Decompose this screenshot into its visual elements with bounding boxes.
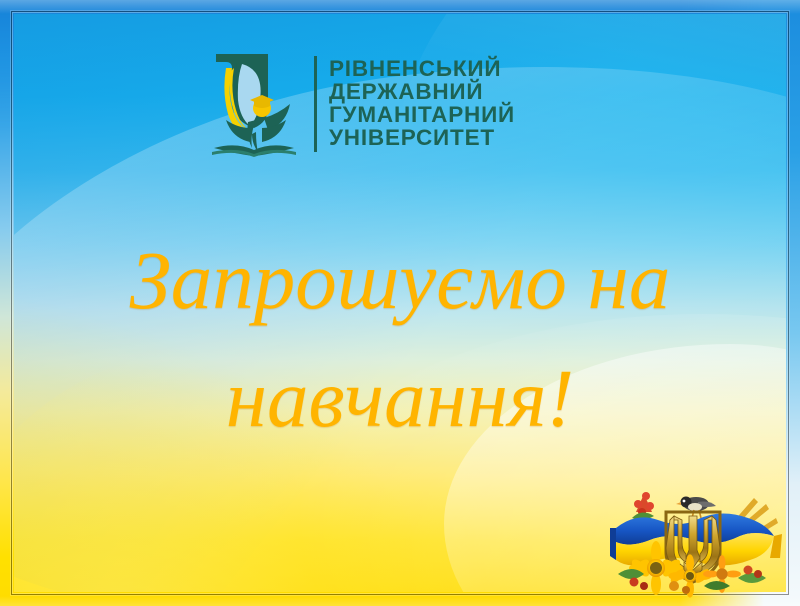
presentation-slide: РІВНЕНСЬКИЙ ДЕРЖАВНИЙ ГУМАНІТАРНИЙ УНІВЕ… bbox=[0, 0, 800, 606]
rshu-emblem-icon bbox=[206, 48, 302, 160]
ukraine-national-emblem bbox=[598, 478, 788, 602]
university-name-line-1: РІВНЕНСЬКИЙ bbox=[329, 58, 515, 81]
university-name-line-2: ДЕРЖАВНИЙ bbox=[329, 81, 515, 104]
university-name-line-4: УНІВЕРСИТЕТ bbox=[329, 127, 515, 150]
logo-divider bbox=[314, 56, 317, 152]
university-name: РІВНЕНСЬКИЙ ДЕРЖАВНИЙ ГУМАНІТАРНИЙ УНІВЕ… bbox=[329, 58, 515, 150]
background-swirl-5 bbox=[14, 214, 594, 592]
university-logo: РІВНЕНСЬКИЙ ДЕРЖАВНИЙ ГУМАНІТАРНИЙ УНІВЕ… bbox=[206, 48, 515, 160]
university-name-line-3: ГУМАНІТАРНИЙ bbox=[329, 104, 515, 127]
background-swirl-6 bbox=[14, 344, 514, 592]
